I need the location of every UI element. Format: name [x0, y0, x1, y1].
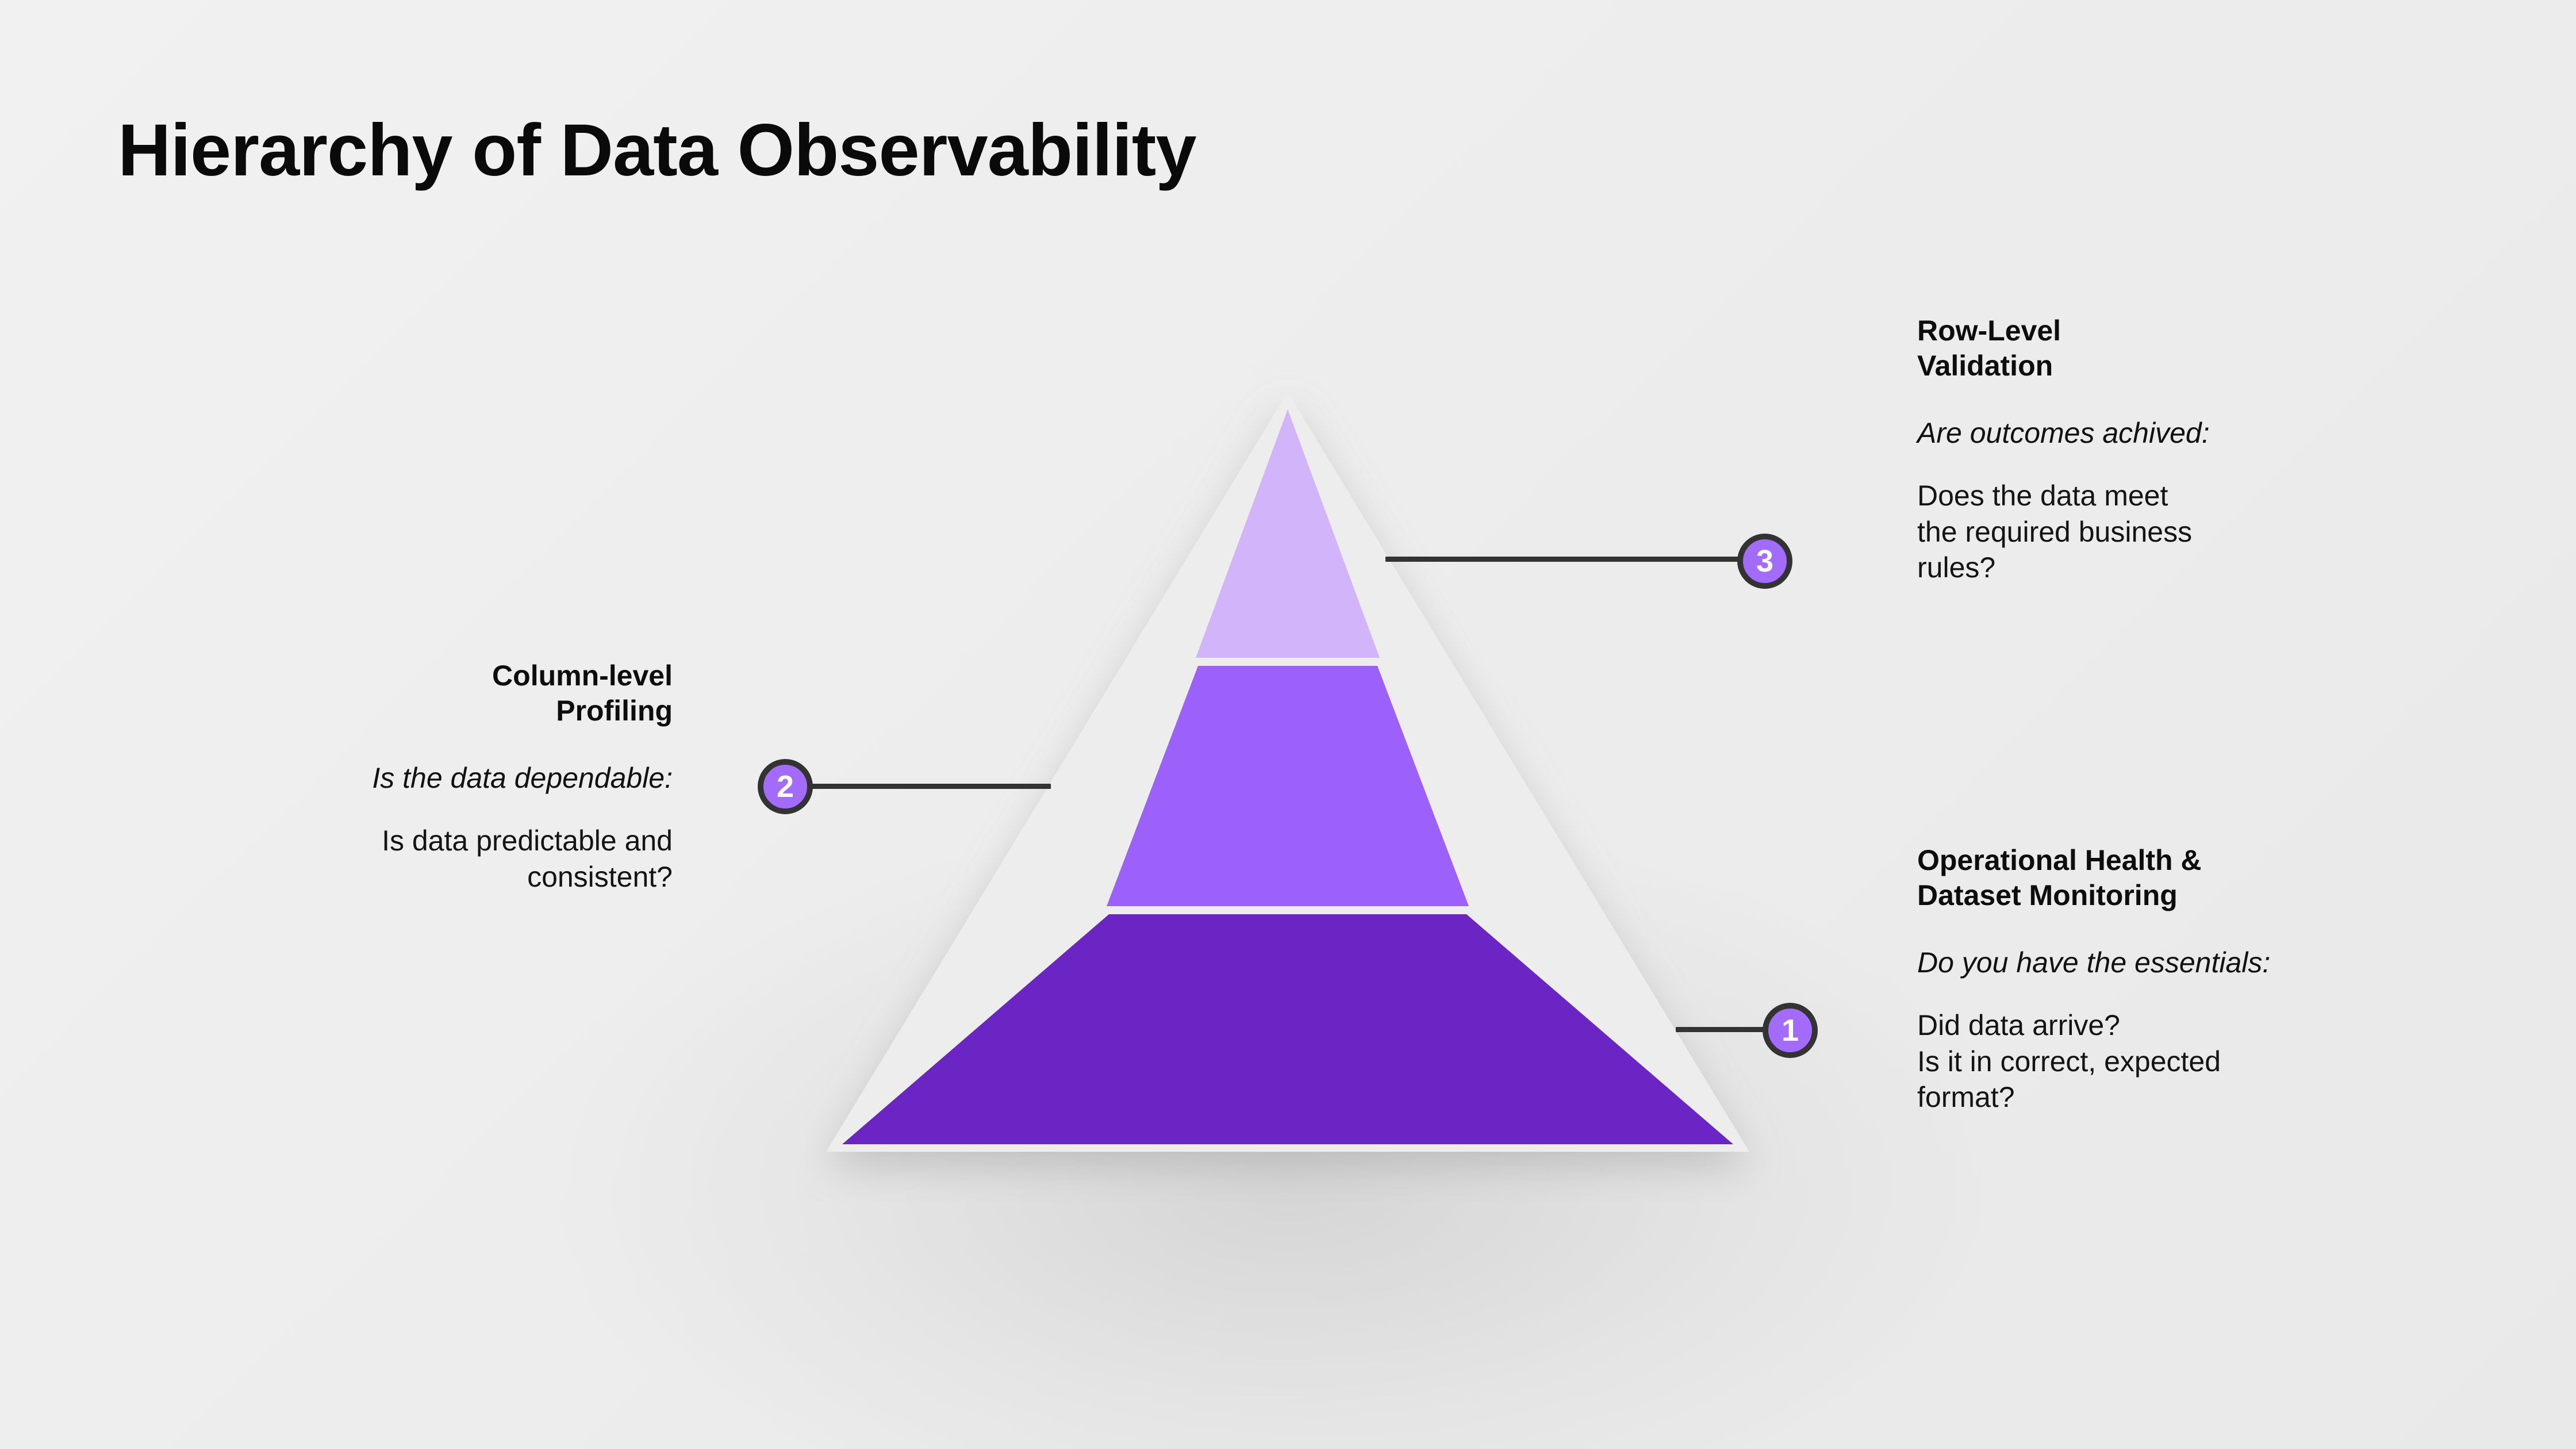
spacer [1917, 980, 2400, 1007]
step-badge-1[interactable]: 1 [1763, 1003, 1818, 1058]
step-badge-3[interactable]: 3 [1737, 534, 1792, 589]
step-badge-2[interactable]: 2 [758, 759, 813, 814]
spacer [218, 729, 673, 761]
spacer [218, 795, 673, 823]
block-operational-health: Operational Health & Dataset Monitoring … [1917, 843, 2400, 1115]
block-row-level-validation: Row-Level Validation Are outcomes achive… [1917, 313, 2389, 586]
operational-question: Do you have the essentials: [1917, 945, 2400, 980]
connector-line-3 [1385, 557, 1765, 562]
step-badge-3-label: 3 [1756, 546, 1773, 577]
operational-heading: Operational Health & Dataset Monitoring [1917, 843, 2400, 913]
step-badge-1-label: 1 [1782, 1015, 1799, 1046]
block-column-level-profiling: Column-level Profiling Is the data depen… [218, 658, 673, 895]
page-title: Hierarchy of Data Observability [118, 108, 1196, 193]
spacer [1917, 913, 2400, 945]
row-level-body: Does the data meet the required business… [1917, 478, 2389, 586]
column-level-question: Is the data dependable: [218, 761, 673, 795]
spacer [1917, 450, 2389, 478]
column-level-body: Is data predictable and consistent? [218, 823, 673, 895]
row-level-question: Are outcomes achived: [1917, 416, 2389, 450]
connector-line-2 [809, 784, 1051, 789]
operational-body: Did data arrive? Is it in correct, expec… [1917, 1007, 2400, 1115]
step-badge-2-label: 2 [777, 771, 794, 802]
column-level-heading: Column-level Profiling [218, 658, 673, 729]
spacer [1917, 384, 2389, 416]
row-level-heading: Row-Level Validation [1917, 313, 2389, 384]
